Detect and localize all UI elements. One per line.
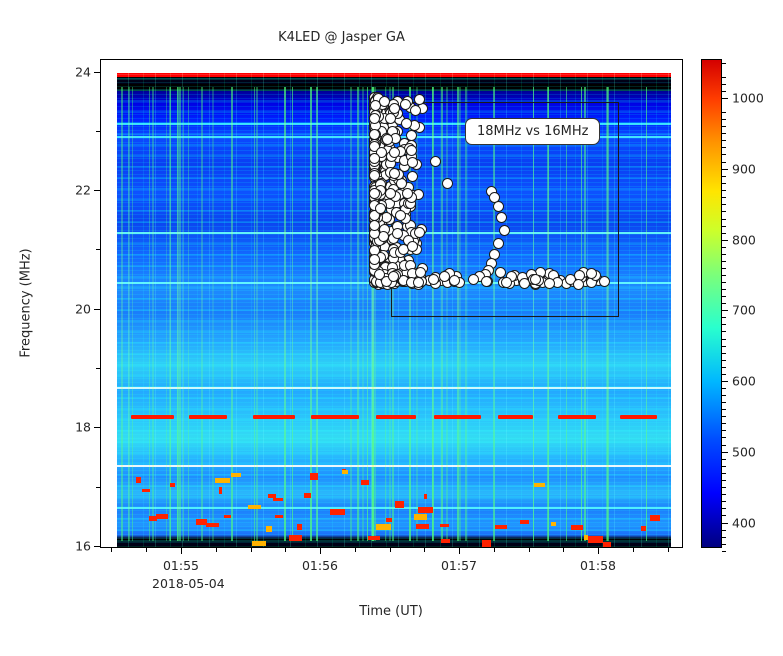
signal-blob <box>342 470 348 475</box>
colorbar-tick-minor <box>722 247 726 248</box>
colorbar-tick-minor <box>722 63 726 64</box>
x-tick <box>181 548 182 554</box>
colorbar-tick-minor <box>722 459 726 460</box>
colorbar-tick-label: 700 <box>732 303 756 318</box>
colorbar-tick-minor <box>722 233 726 234</box>
x-tick-label: 01:55 <box>163 558 199 573</box>
x-tick-minor <box>285 548 286 552</box>
colorbar-tick-label: 400 <box>732 516 756 531</box>
colorbar-tick-minor <box>722 551 726 552</box>
x-tick-minor <box>529 548 530 552</box>
signal-blob <box>252 541 266 546</box>
figure-canvas: K4LED @ Jasper GA 18MHz vs 16MHz 2422201… <box>0 0 783 656</box>
y-tick-label: 16 <box>75 539 91 554</box>
scatter-point <box>414 94 425 105</box>
colorbar-tick-minor <box>722 409 726 410</box>
red-dash-marker <box>558 415 596 419</box>
signal-blob <box>310 473 318 480</box>
scatter-point <box>389 147 400 158</box>
signal-blob <box>386 518 392 523</box>
colorbar-tick-minor <box>722 84 726 85</box>
scatter-point <box>369 188 380 199</box>
colorbar-tick-minor <box>722 416 726 417</box>
signal-blob <box>495 525 507 529</box>
signal-blob <box>376 524 391 530</box>
colorbar-tick-minor <box>722 466 726 467</box>
colorbar-tick-minor <box>722 501 726 502</box>
x-tick-minor <box>668 548 669 552</box>
colorbar-tick-minor <box>722 77 726 78</box>
scatter-point <box>496 212 507 223</box>
scatter-point <box>407 171 418 182</box>
colorbar-tick-minor <box>722 487 726 488</box>
colorbar-tick-minor <box>722 508 726 509</box>
signal-blob <box>219 487 223 494</box>
signal-blob <box>248 505 261 509</box>
signal-blob <box>196 519 208 524</box>
colorbar-tick-minor <box>722 480 726 481</box>
signal-blob <box>266 526 272 532</box>
colorbar-tick-minor <box>722 473 726 474</box>
signal-blob <box>395 501 403 508</box>
colorbar-tick-minor <box>722 282 726 283</box>
colorbar-gradient[interactable] <box>701 59 722 548</box>
colorbar-tick-minor <box>722 430 726 431</box>
red-dash-marker <box>131 415 174 419</box>
x-tick-minor <box>424 548 425 552</box>
red-dash-marker <box>498 415 533 419</box>
signal-blob <box>224 515 231 518</box>
signal-blob <box>170 483 175 488</box>
colorbar-tick-minor <box>722 147 726 148</box>
scatter-point <box>410 105 421 116</box>
x-tick-label: 01:56 <box>302 558 338 573</box>
signal-blob <box>551 522 556 526</box>
colorbar-tick-minor <box>722 537 726 538</box>
red-dash-marker <box>311 415 359 419</box>
y-tick <box>94 72 100 73</box>
colorbar-tick <box>722 310 728 311</box>
colorbar-tick-minor <box>722 544 726 545</box>
x-tick-minor <box>494 548 495 552</box>
colorbar-tick-minor <box>722 183 726 184</box>
colorbar-tick-minor <box>722 254 726 255</box>
colorbar-tick-label: 500 <box>732 445 756 460</box>
colorbar-tick-minor <box>722 219 726 220</box>
colorbar-tick-minor <box>722 289 726 290</box>
signal-blob <box>156 514 168 519</box>
x-tick-label: 01:58 <box>580 558 616 573</box>
signal-blob <box>215 478 230 483</box>
colorbar-tick-minor <box>722 331 726 332</box>
x-tick-minor <box>251 548 252 552</box>
red-dash-marker <box>620 415 657 419</box>
colorbar-tick <box>722 452 728 453</box>
x-tick-minor <box>111 548 112 552</box>
colorbar-tick-minor <box>722 261 726 262</box>
colorbar-tick-minor <box>722 211 726 212</box>
colorbar-tick-minor <box>722 140 726 141</box>
x-tick-label: 01:57 <box>441 558 477 573</box>
colorbar-tick-minor <box>722 346 726 347</box>
colorbar-tick-minor <box>722 437 726 438</box>
signal-blob <box>440 524 448 527</box>
x-tick-minor <box>216 548 217 552</box>
scatter-point <box>430 156 441 167</box>
scatter-point <box>395 210 406 221</box>
red-dash-marker <box>434 415 481 419</box>
x-tick-minor <box>633 548 634 552</box>
colorbar-tick-minor <box>722 494 726 495</box>
signal-blob <box>231 473 240 477</box>
signal-blob <box>441 539 450 543</box>
colorbar-tick-label: 600 <box>732 374 756 389</box>
colorbar-tick <box>722 381 728 382</box>
colorbar-tick-minor <box>722 360 726 361</box>
colorbar-tick-minor <box>722 176 726 177</box>
colorbar-tick-minor <box>722 515 726 516</box>
signal-blob <box>304 493 311 498</box>
y-tick <box>94 309 100 310</box>
scatter-point <box>428 274 439 285</box>
colorbar-tick-minor <box>722 388 726 389</box>
colorbar-tick-label: 800 <box>732 233 756 248</box>
signal-blob <box>650 515 660 521</box>
colorbar-tick-minor <box>722 445 726 446</box>
colorbar-tick-minor <box>722 317 726 318</box>
y-tick <box>94 427 100 428</box>
signal-blob <box>418 507 433 513</box>
x-tick-minor <box>146 548 147 552</box>
colorbar-tick-minor <box>722 395 726 396</box>
signal-blob <box>273 498 283 502</box>
x-tick-minor <box>390 548 391 552</box>
y-tick-minor <box>96 249 100 250</box>
y-tick-label: 18 <box>75 420 91 435</box>
colorbar-tick-label: 1000 <box>732 91 764 106</box>
colorbar-tick-minor <box>722 303 726 304</box>
signal-blob <box>289 535 303 540</box>
x-tick <box>459 548 460 554</box>
scatter-point <box>388 271 399 282</box>
chart-title: K4LED @ Jasper GA <box>0 30 683 45</box>
signal-blob <box>414 514 427 520</box>
x-axis-label: Time (UT) <box>359 604 423 619</box>
colorbar-tick-minor <box>722 162 726 163</box>
y-tick <box>94 190 100 191</box>
y-tick-label: 22 <box>75 183 91 198</box>
colorbar-tick-minor <box>722 197 726 198</box>
scatter-point <box>382 134 393 145</box>
scatter-point <box>530 274 541 285</box>
scatter-point <box>493 201 504 212</box>
colorbar-tick-minor <box>722 324 726 325</box>
colorbar-tick-minor <box>722 190 726 191</box>
scatter-point <box>481 276 492 287</box>
signal-blob <box>297 524 302 531</box>
scatter-point <box>385 113 396 124</box>
signal-blob <box>424 494 427 498</box>
x-tick-minor <box>563 548 564 552</box>
y-tick-minor <box>96 131 100 132</box>
signal-blob <box>534 483 545 487</box>
signal-blob <box>275 515 284 518</box>
signal-blob <box>482 540 491 547</box>
colorbar-tick-minor <box>722 91 726 92</box>
red-dash-marker <box>253 415 295 419</box>
colorbar-tick-minor <box>722 423 726 424</box>
y-tick-minor <box>96 487 100 488</box>
colorbar-tick-minor <box>722 204 726 205</box>
colorbar-tick-minor <box>722 339 726 340</box>
signal-blob <box>588 536 603 543</box>
signal-blob <box>142 489 150 493</box>
colorbar-tick-minor <box>722 112 726 113</box>
date-label: 2018-05-04 <box>152 576 225 591</box>
colorbar-tick-minor <box>722 126 726 127</box>
colorbar-tick-minor <box>722 296 726 297</box>
colorbar-tick-minor <box>722 374 726 375</box>
colorbar-tick-label: 900 <box>732 162 756 177</box>
colorbar-tick-minor <box>722 119 726 120</box>
red-dash-marker <box>189 415 227 419</box>
scatter-point <box>406 145 417 156</box>
y-tick-label: 24 <box>75 65 91 80</box>
scatter-point <box>389 168 400 179</box>
colorbar-tick <box>722 240 728 241</box>
spectrogram-axes[interactable]: 18MHz vs 16MHz <box>100 59 683 548</box>
signal-blob <box>416 524 430 529</box>
colorbar-tick-minor <box>722 226 726 227</box>
signal-blob <box>136 477 141 483</box>
red-dash-marker <box>376 415 417 419</box>
signal-blob <box>641 526 646 531</box>
scatter-point <box>389 103 400 114</box>
colorbar-tick <box>722 169 728 170</box>
scatter-point <box>392 228 403 239</box>
signal-blob <box>368 536 380 540</box>
scatter-point <box>499 225 510 236</box>
scatter-point <box>369 113 380 124</box>
scatter-point <box>369 220 380 231</box>
signal-blob <box>603 542 611 547</box>
signal-blob <box>584 535 587 540</box>
signal-blob <box>330 509 344 515</box>
signal-blob <box>571 525 583 530</box>
scatter-point <box>493 238 504 249</box>
colorbar-tick-minor <box>722 133 726 134</box>
colorbar-tick-minor <box>722 268 726 269</box>
x-tick <box>598 548 599 554</box>
y-axis-label: Frequency (MHz) <box>19 248 34 357</box>
x-tick <box>320 548 321 554</box>
y-tick-label: 20 <box>75 302 91 317</box>
colorbar-tick-minor <box>722 275 726 276</box>
x-tick-minor <box>355 548 356 552</box>
y-tick <box>94 546 100 547</box>
colorbar-tick <box>722 523 728 524</box>
signal-blob <box>206 523 218 527</box>
scatter-point <box>402 188 413 199</box>
annotation-label: 18MHz vs 16MHz <box>465 118 600 145</box>
y-tick-minor <box>96 368 100 369</box>
colorbar-tick-minor <box>722 402 726 403</box>
signal-blob <box>520 520 529 524</box>
colorbar-tick-minor <box>722 154 726 155</box>
colorbar-tick <box>722 98 728 99</box>
colorbar-tick-minor <box>722 353 726 354</box>
colorbar-tick-minor <box>722 367 726 368</box>
colorbar-tick-minor <box>722 530 726 531</box>
signal-blob <box>361 480 370 485</box>
